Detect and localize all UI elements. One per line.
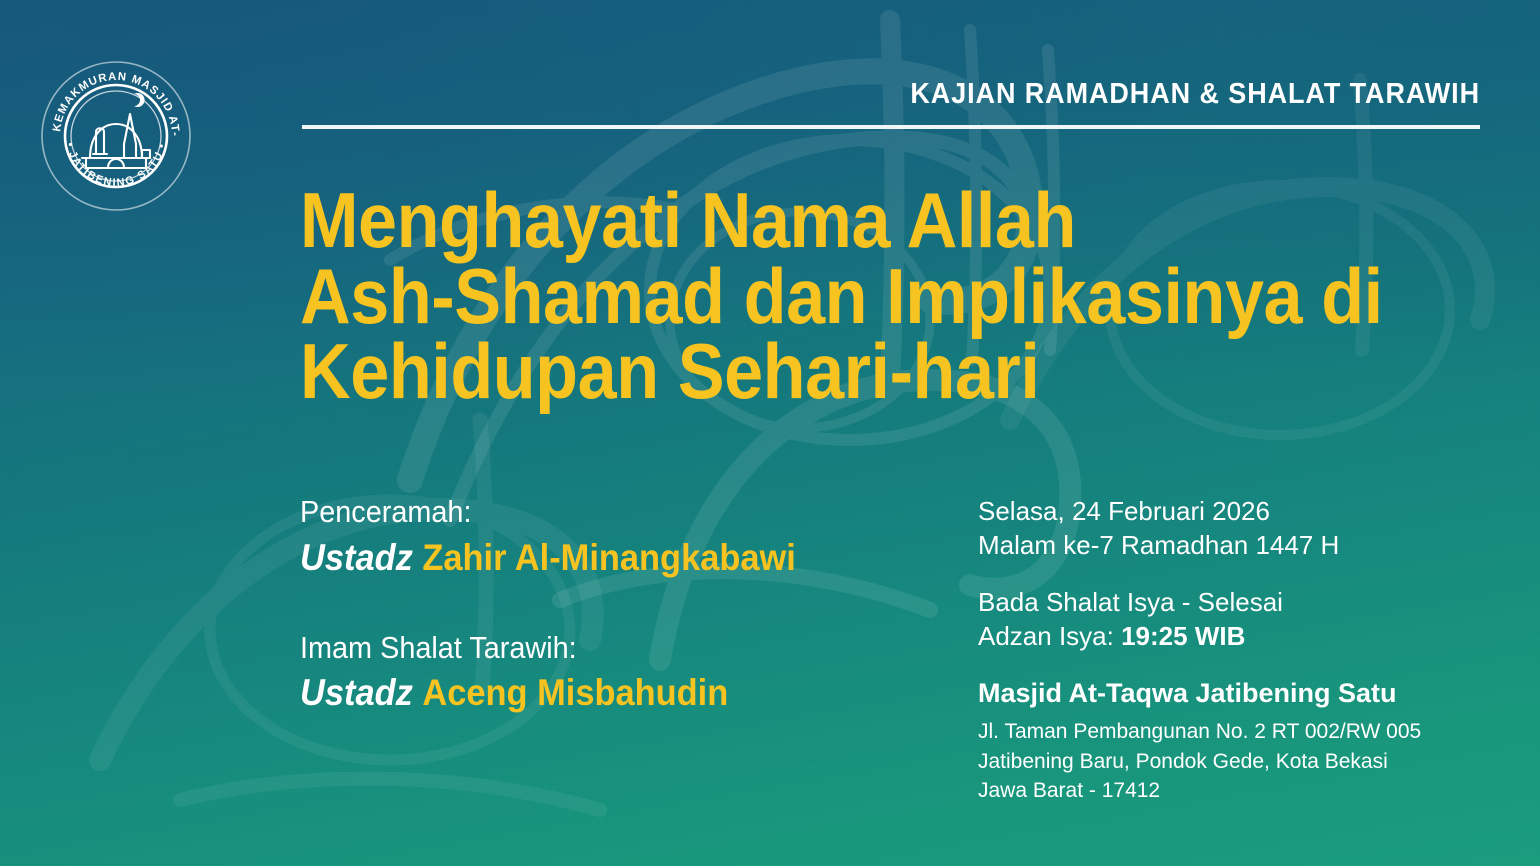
imam-honorific: Ustadz xyxy=(300,672,413,713)
mosque-emblem-icon: DEWAN KEMAKMURAN MASJID AT-TAQWA • JATIB… xyxy=(38,58,194,214)
event-hijri-date: Malam ke-7 Ramadhan 1447 H xyxy=(978,528,1518,562)
penceramah-name: Zahir Al-Minangkabawi xyxy=(422,537,795,578)
imam-label: Imam Shalat Tarawih: xyxy=(300,628,895,668)
venue-group: Masjid At-Taqwa Jatibening Satu Jl. Tama… xyxy=(978,675,1518,806)
speaker-block-penceramah: Penceramah: Ustadz Zahir Al-Minangkabawi xyxy=(300,492,940,582)
event-time-note: Bada Shalat Isya - Selesai xyxy=(978,585,1518,619)
penceramah-name-row: Ustadz Zahir Al-Minangkabawi xyxy=(300,534,895,582)
title-line-1: Menghayati Nama Allah xyxy=(300,183,1380,259)
logo-bottom-text: • JATIBENING SATU • xyxy=(64,141,169,189)
penceramah-honorific: Ustadz xyxy=(300,537,413,578)
title-line-2: Ash-Shamad dan Implikasinya di xyxy=(300,259,1380,335)
penceramah-label: Penceramah: xyxy=(300,492,895,532)
venue-address-line-2: Jatibening Baru, Pondok Gede, Kota Bekas… xyxy=(978,747,1518,777)
adzan-label: Adzan Isya: xyxy=(978,621,1114,651)
venue-name: Masjid At-Taqwa Jatibening Satu xyxy=(978,675,1518,711)
date-group: Selasa, 24 Februari 2026 Malam ke-7 Rama… xyxy=(978,494,1518,563)
svg-text:• JATIBENING SATU •: • JATIBENING SATU • xyxy=(64,141,169,189)
organization-logo: DEWAN KEMAKMURAN MASJID AT-TAQWA • JATIB… xyxy=(38,58,194,214)
header-title: KAJIAN RAMADHAN & SHALAT TARAWIH xyxy=(384,80,1480,109)
speakers-section: Penceramah: Ustadz Zahir Al-Minangkabawi… xyxy=(300,492,940,718)
event-poster: DEWAN KEMAKMURAN MASJID AT-TAQWA • JATIB… xyxy=(0,0,1540,866)
adzan-row: Adzan Isya: 19:25 WIB xyxy=(978,619,1518,653)
imam-name: Aceng Misbahudin xyxy=(422,672,728,713)
header-divider xyxy=(302,125,1480,129)
venue-address-line-3: Jawa Barat - 17412 xyxy=(978,776,1518,806)
event-info-section: Selasa, 24 Februari 2026 Malam ke-7 Rama… xyxy=(978,494,1518,806)
time-group: Bada Shalat Isya - Selesai Adzan Isya: 1… xyxy=(978,585,1518,654)
speaker-block-imam: Imam Shalat Tarawih: Ustadz Aceng Misbah… xyxy=(300,628,940,718)
title-line-3: Kehidupan Sehari-hari xyxy=(300,334,1380,410)
imam-name-row: Ustadz Aceng Misbahudin xyxy=(300,669,895,717)
event-date: Selasa, 24 Februari 2026 xyxy=(978,494,1518,528)
poster-title: Menghayati Nama Allah Ash-Shamad dan Imp… xyxy=(300,183,1380,410)
venue-address-line-1: Jl. Taman Pembangunan No. 2 RT 002/RW 00… xyxy=(978,717,1518,747)
adzan-time: 19:25 WIB xyxy=(1121,621,1245,651)
poster-header: KAJIAN RAMADHAN & SHALAT TARAWIH xyxy=(302,80,1480,129)
